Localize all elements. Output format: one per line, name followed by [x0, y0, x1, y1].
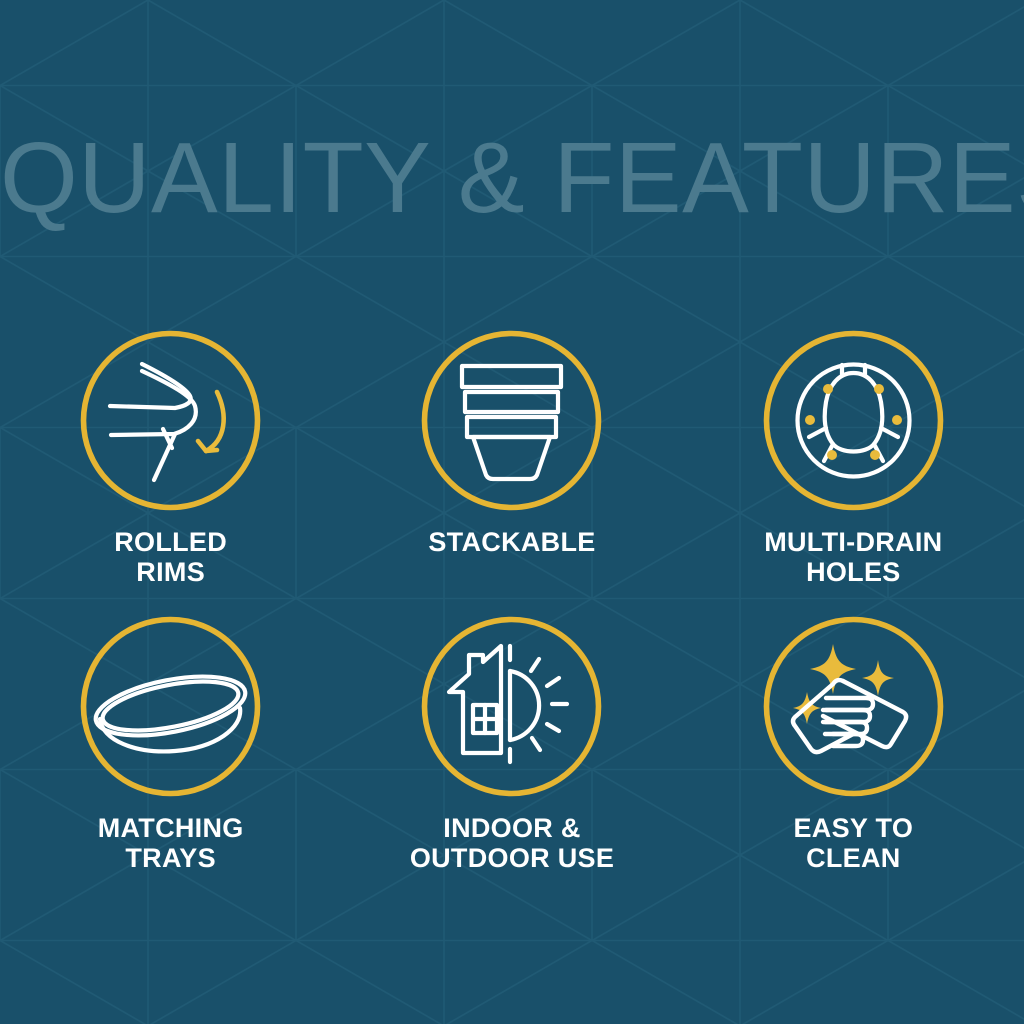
- feature-label: MATCHING TRAYS: [98, 813, 244, 873]
- rolled-rim-icon: [110, 364, 196, 480]
- feature-label: MULTI-DRAIN HOLES: [764, 527, 942, 587]
- badge-easy-to-clean: [763, 616, 944, 797]
- gold-ring: [425, 334, 599, 508]
- sun-icon: [510, 646, 567, 762]
- feature-label: ROLLED RIMS: [114, 527, 227, 587]
- gold-ring: [766, 620, 940, 794]
- feature-item-matching-trays: MATCHING TRAYS: [21, 616, 321, 902]
- feature-label: EASY TO CLEAN: [794, 813, 914, 873]
- badge-rolled-rims: [80, 330, 261, 511]
- quality-features-infographic: QUALITY & FEATURES: [0, 0, 1024, 1024]
- badge-stackable: [421, 330, 602, 511]
- saucer-tray-icon: [91, 666, 250, 751]
- feature-item-multi-drain-holes: MULTI-DRAIN HOLES: [703, 330, 1003, 616]
- feature-item-rolled-rims: ROLLED RIMS: [21, 330, 321, 616]
- feature-label: STACKABLE: [428, 527, 595, 557]
- feature-item-indoor-outdoor-use: INDOOR & OUTDOOR USE: [362, 616, 662, 902]
- gold-ring: [84, 334, 258, 508]
- hand-wipe-icon: [793, 680, 906, 752]
- drain-hole-dots: [805, 384, 902, 460]
- page-title: QUALITY & FEATURES: [0, 128, 1024, 228]
- badge-matching-trays: [80, 616, 261, 797]
- house-icon: [449, 646, 501, 753]
- feature-item-easy-to-clean: EASY TO CLEAN: [703, 616, 1003, 902]
- stacked-pots-icon: [462, 366, 561, 479]
- gold-ring: [766, 334, 940, 508]
- feature-label: INDOOR & OUTDOOR USE: [410, 813, 614, 873]
- badge-multi-drain-holes: [763, 330, 944, 511]
- badge-indoor-outdoor: [421, 616, 602, 797]
- feature-grid: ROLLED RIMS: [0, 330, 1024, 902]
- curved-arrow-icon: [198, 392, 224, 451]
- feature-item-stackable: STACKABLE: [362, 330, 662, 616]
